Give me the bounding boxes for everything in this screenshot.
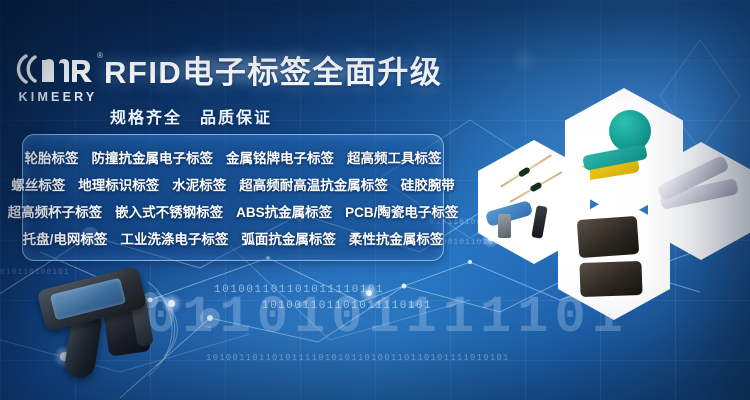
tag-item[interactable]: 金属铭牌电子标签 <box>226 147 334 167</box>
tag-row: 螺丝标签地理标识标签水泥标签超高频耐高温抗金属标签硅胶腕带 <box>23 170 443 197</box>
tag-item[interactable]: 柔性抗金属标签 <box>349 228 444 248</box>
tag-row: 超高频杯子标签嵌入式不锈钢标签ABS抗金属标签PCB/陶瓷电子标签 <box>23 197 443 224</box>
tag-item[interactable]: 地理标识标签 <box>78 174 159 194</box>
black-tube-tag <box>531 205 547 238</box>
tag-item[interactable]: PCB/陶瓷电子标签 <box>345 201 458 221</box>
tag-item[interactable]: 嵌入式不锈钢标签 <box>115 201 223 221</box>
black-anti-metal-tag <box>579 261 642 297</box>
binary-bottom-text: 1010011011010111101010110100110110101111… <box>206 353 510 363</box>
tag-item[interactable]: 工业洗涤电子标签 <box>120 228 228 248</box>
tag-item[interactable]: 防撞抗金属电子标签 <box>92 147 214 167</box>
tag-item[interactable]: 螺丝标签 <box>11 174 65 194</box>
tag-row: 轮胎标签防撞抗金属电子标签金属铭牌电子标签超高频工具标签 <box>23 143 443 170</box>
tag-item[interactable]: 托盘/电网标签 <box>23 228 108 248</box>
tag-row: 托盘/电网标签工业洗涤电子标签弧面抗金属标签柔性抗金属标签 <box>23 224 443 251</box>
headline-wrapper: RFID电子标签全面升级 <box>104 48 442 90</box>
kimeery-wordmark: KIMEERY <box>14 90 102 104</box>
tag-item[interactable]: 超高频耐高温抗金属标签 <box>239 174 388 194</box>
tag-item[interactable]: 水泥标签 <box>172 174 226 194</box>
tag-item[interactable]: 轮胎标签 <box>25 147 79 167</box>
tag-item[interactable]: 硅胶腕带 <box>401 174 455 194</box>
subtitle-text: 规格齐全 品质保证 <box>110 104 272 128</box>
tag-item[interactable]: ABS抗金属标签 <box>236 201 332 221</box>
product-tag-panel: 轮胎标签防撞抗金属电子标签金属铭牌电子标签超高频工具标签 螺丝标签地理标识标签水… <box>22 134 444 261</box>
binary-large-text: 10110101111101 <box>108 288 629 347</box>
handheld-rfid-reader <box>30 272 180 392</box>
binary-mid-text-1: 101001101101011110101 <box>214 284 384 296</box>
binary-mid-text-2: 101001101101011110101 <box>262 300 432 312</box>
headline-text: RFID电子标签全面升级 <box>104 47 442 92</box>
tag-item[interactable]: 超高频工具标签 <box>347 147 442 167</box>
tag-item[interactable]: 超高频杯子标签 <box>8 201 103 221</box>
black-anti-metal-tag <box>577 216 640 258</box>
rfid-promo-banner: 10110101111101 101001101101011110101 101… <box>0 0 750 400</box>
screw-shaft <box>498 214 511 238</box>
tag-item[interactable]: 弧面抗金属标签 <box>241 228 336 248</box>
